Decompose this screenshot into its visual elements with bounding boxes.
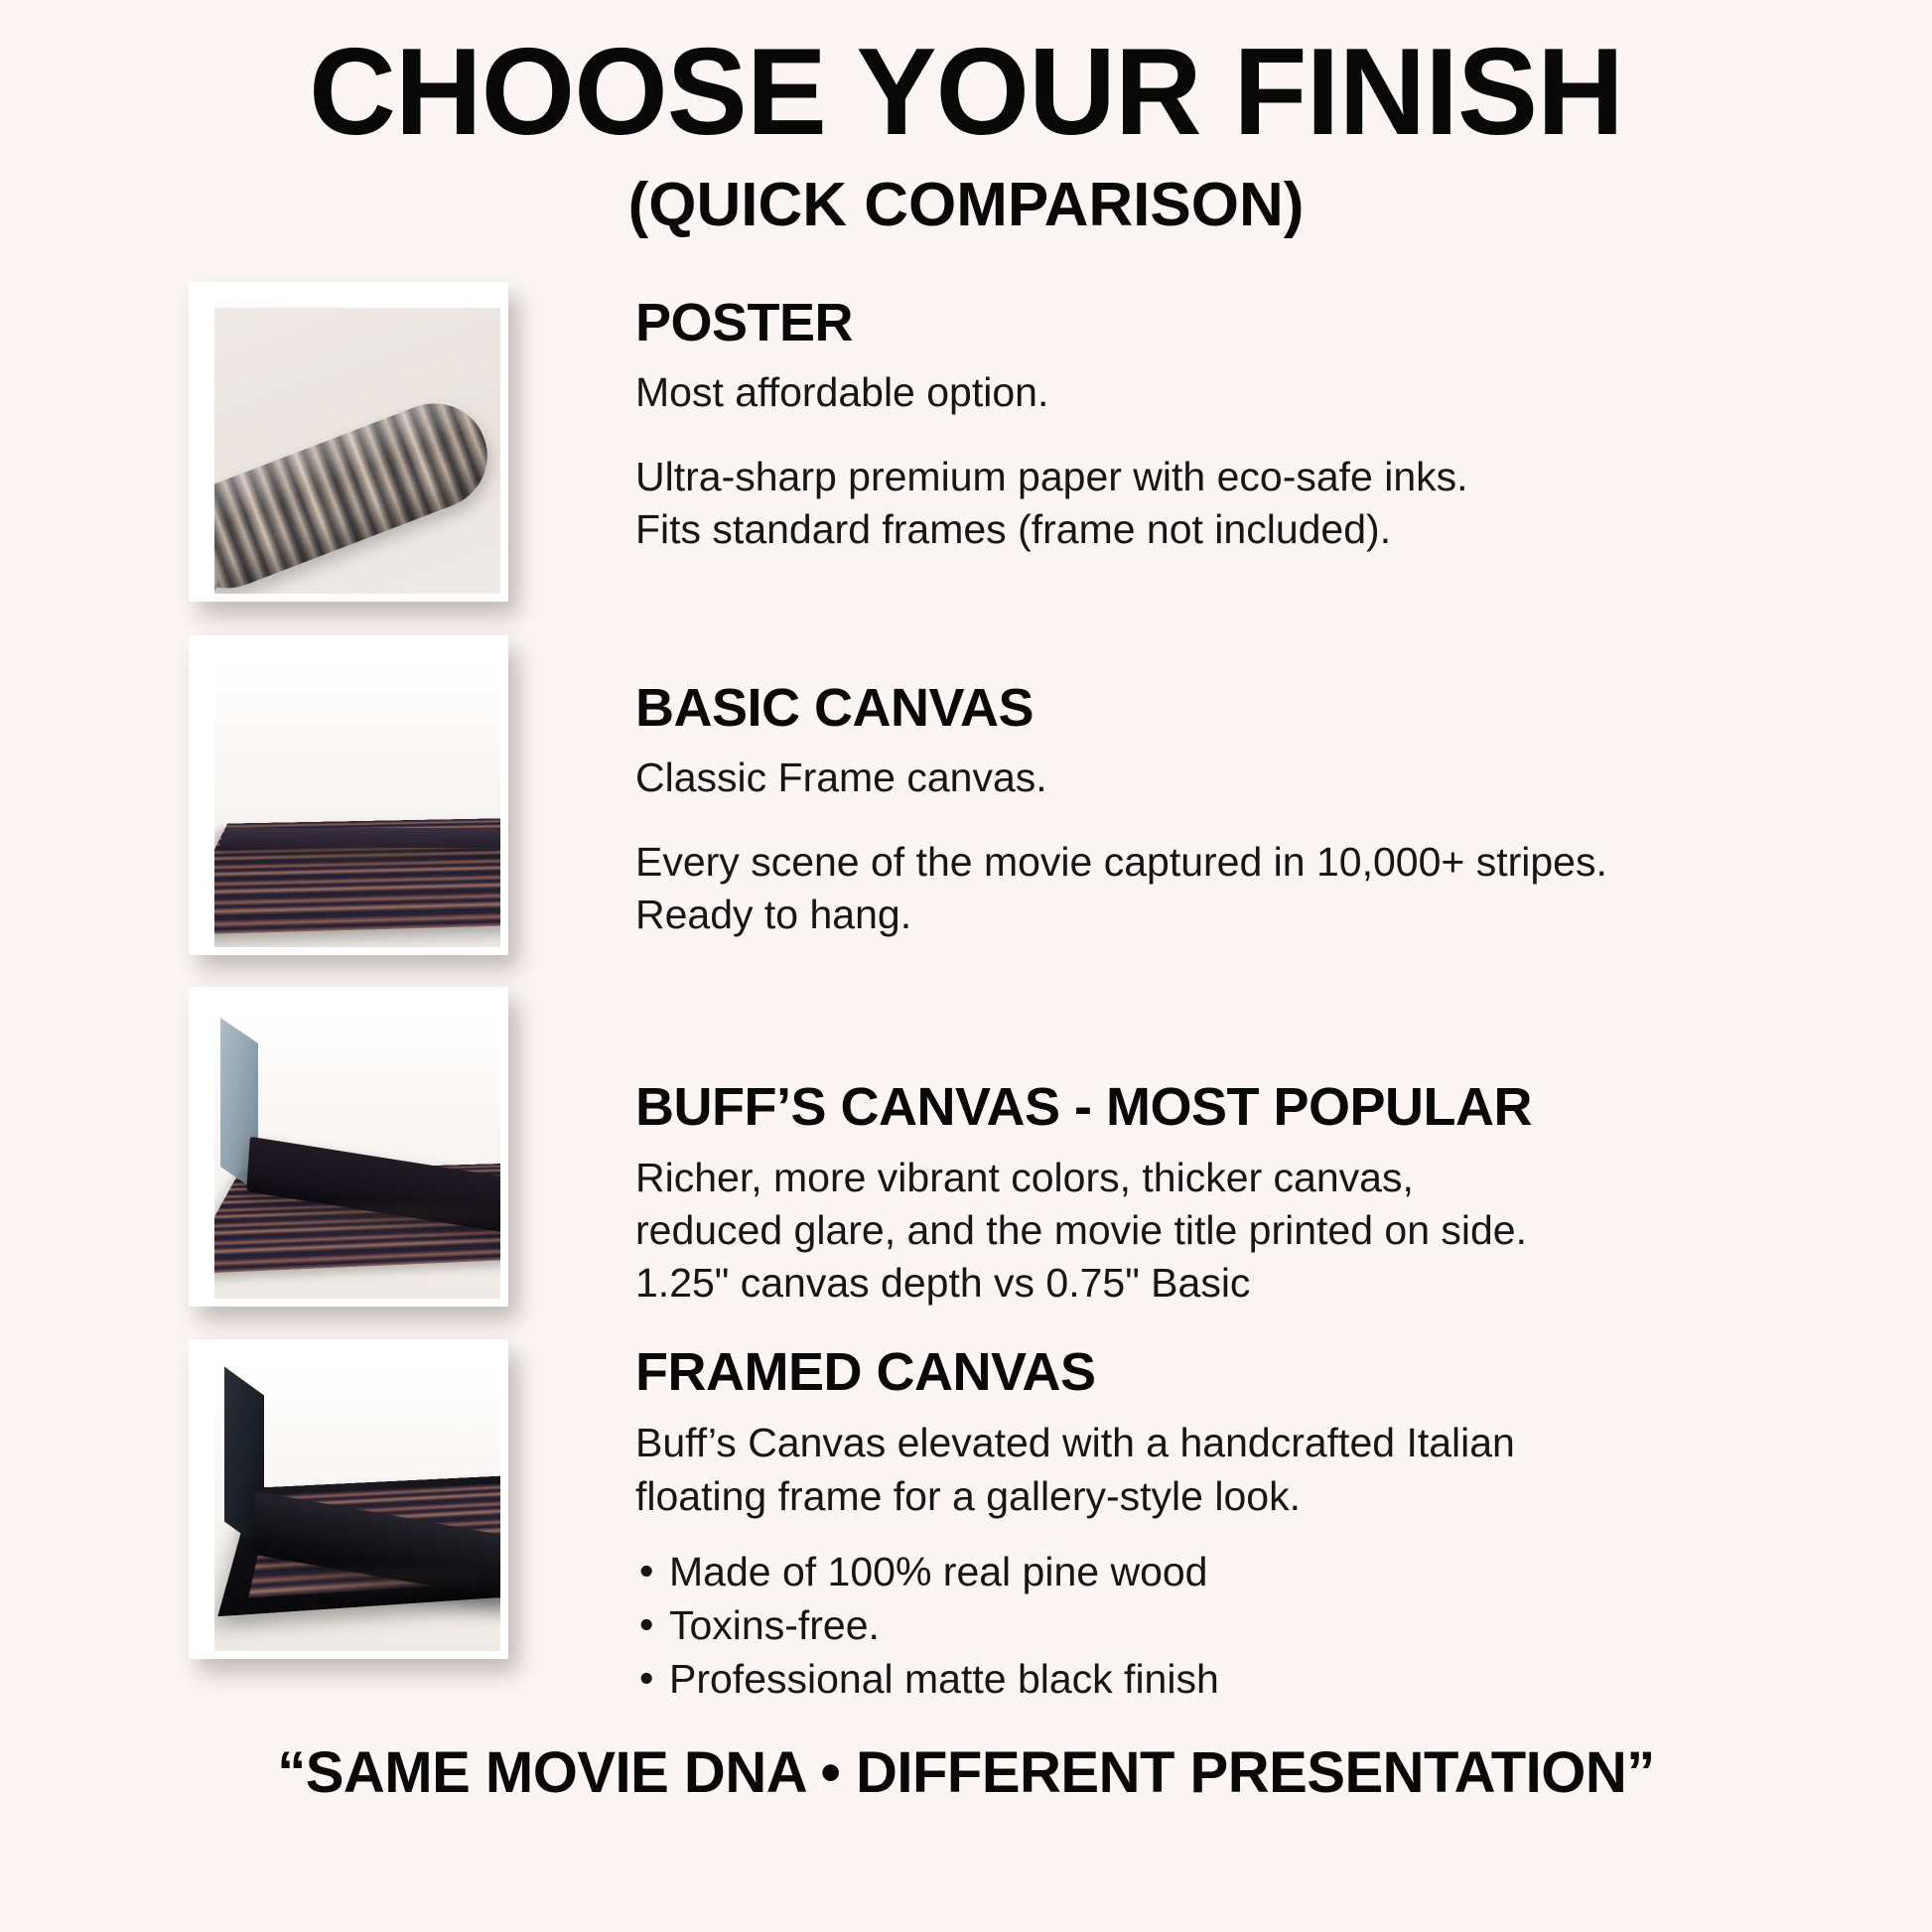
canvas-drop-shadow	[234, 1207, 500, 1241]
option-body-line: Buff’s Canvas elevated with a handcrafte…	[635, 1417, 1515, 1469]
product-image-poster	[189, 282, 508, 602]
option-title: FRAMED CANVAS	[635, 1345, 1515, 1399]
footer-tagline: “SAME MOVIE DNA • DIFFERENT PRESENTATION…	[0, 1739, 1932, 1806]
canvas-edge-icon	[218, 828, 500, 848]
option-body-line: Every scene of the movie captured in 10,…	[635, 836, 1607, 889]
list-item: Toxins-free.	[635, 1598, 1515, 1652]
option-title: BASIC CANVAS	[635, 681, 1607, 735]
option-body: Buff’s Canvas elevated with a handcrafte…	[635, 1417, 1515, 1523]
option-content-poster: POSTER Most affordable option. Ultra-sha…	[508, 282, 1468, 557]
product-image-framed-canvas	[189, 1339, 508, 1659]
option-title: BUFF’S CANVAS - MOST POPULAR	[635, 1080, 1532, 1134]
option-body: Every scene of the movie captured in 10,…	[635, 836, 1607, 942]
framed-canvas-photo	[214, 1365, 500, 1651]
canvas-drop-shadow	[224, 846, 500, 872]
footer: “SAME MOVIE DNA • DIFFERENT PRESENTATION…	[0, 1739, 1932, 1806]
option-content-basic-canvas: BASIC CANVAS Classic Frame canvas. Every…	[508, 635, 1607, 942]
option-title: POSTER	[635, 296, 1468, 349]
header: CHOOSE YOUR FINISH (QUICK COMPARISON)	[0, 0, 1932, 238]
option-body-line: 1.25" canvas depth vs 0.75" Basic	[635, 1257, 1532, 1310]
option-body-line: Ultra-sharp premium paper with eco-safe …	[635, 451, 1468, 503]
product-image-basic-canvas	[189, 635, 508, 955]
option-row-poster: POSTER Most affordable option. Ultra-sha…	[0, 282, 1932, 602]
canvas-drop-shadow	[238, 1570, 500, 1601]
option-row-buffs-canvas: BUFF’S CANVAS - MOST POPULAR Richer, mor…	[0, 987, 1932, 1311]
product-image-buffs-canvas	[189, 987, 508, 1307]
list-item: Professional matte black finish	[635, 1652, 1515, 1706]
basic-canvas-photo	[214, 661, 500, 947]
option-body-line: reduced glare, and the movie title print…	[635, 1204, 1532, 1257]
buffs-canvas-photo	[214, 1013, 500, 1299]
option-body-line: Richer, more vibrant colors, thicker can…	[635, 1152, 1532, 1204]
option-body: Richer, more vibrant colors, thicker can…	[635, 1152, 1532, 1311]
option-lead: Most affordable option.	[635, 367, 1468, 417]
option-row-framed-canvas: FRAMED CANVAS Buff’s Canvas elevated wit…	[0, 1339, 1932, 1706]
comparison-rows: POSTER Most affordable option. Ultra-sha…	[0, 282, 1932, 1707]
option-body-line: Fits standard frames (frame not included…	[635, 503, 1468, 556]
option-body: Ultra-sharp premium paper with eco-safe …	[635, 451, 1468, 557]
option-body-line: Ready to hang.	[635, 889, 1607, 941]
page-title: CHOOSE YOUR FINISH	[19, 30, 1912, 155]
option-row-basic-canvas: BASIC CANVAS Classic Frame canvas. Every…	[0, 635, 1932, 955]
page-subtitle: (QUICK COMPARISON)	[0, 173, 1932, 237]
poster-photo	[214, 308, 500, 594]
infographic-page: CHOOSE YOUR FINISH (QUICK COMPARISON) PO…	[0, 0, 1932, 1932]
option-content-buffs-canvas: BUFF’S CANVAS - MOST POPULAR Richer, mor…	[508, 987, 1532, 1311]
list-item: Made of 100% real pine wood	[635, 1545, 1515, 1598]
option-body-line: floating frame for a gallery-style look.	[635, 1470, 1515, 1523]
option-bullet-list: Made of 100% real pine wood Toxins-free.…	[635, 1545, 1515, 1706]
option-lead: Classic Frame canvas.	[635, 753, 1607, 802]
option-content-framed-canvas: FRAMED CANVAS Buff’s Canvas elevated wit…	[508, 1339, 1515, 1706]
